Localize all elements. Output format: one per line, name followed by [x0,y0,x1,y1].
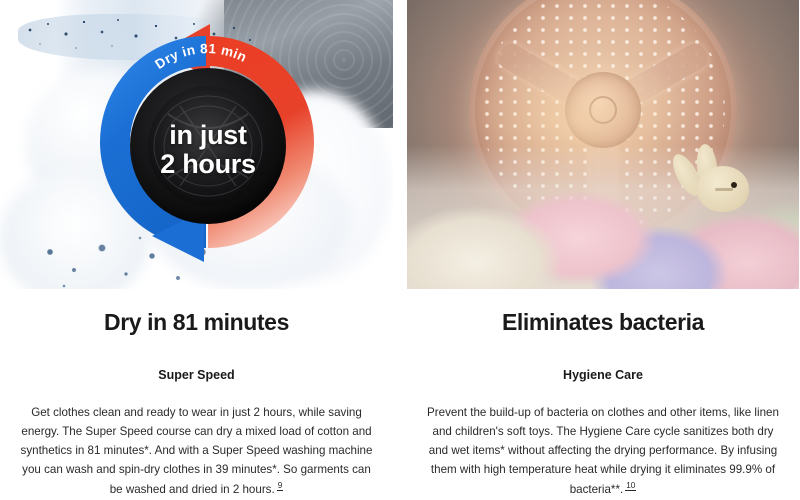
footnote-marker: 9 [277,481,284,491]
subtitle-super-speed: Super Speed [0,368,393,382]
feature-panel-super-speed: Dry in 81 min in just 2 hours Dry in 81 … [0,0,393,500]
description-text: Prevent the build-up of bacteria on clot… [427,406,779,496]
page-title-hygiene-care: Eliminates bacteria [407,309,799,336]
subtitle-hygiene-care: Hygiene Care [407,368,799,382]
feature-panel-hygiene-care: Eliminates bacteria Hygiene Care Prevent… [407,0,799,500]
page-title-super-speed: Dry in 81 minutes [0,309,393,336]
dryer-drum-photo [407,0,799,289]
feature-comparison-page: Dry in 81 min in just 2 hours Dry in 81 … [0,0,800,500]
description-text: Get clothes clean and ready to wear in j… [21,406,373,496]
description-super-speed: Get clothes clean and ready to wear in j… [19,404,374,500]
cycle-dial-graphic: Dry in 81 min in just 2 hours [88,22,328,268]
hero-image-hygiene-care [407,0,799,289]
hero-image-super-speed: Dry in 81 min in just 2 hours [0,0,393,289]
stuffed-bunny-toy [675,148,753,220]
footnote-marker: 10 [625,481,636,491]
bunny-snout [715,188,733,191]
description-hygiene-care: Prevent the build-up of bacteria on clot… [426,404,781,500]
